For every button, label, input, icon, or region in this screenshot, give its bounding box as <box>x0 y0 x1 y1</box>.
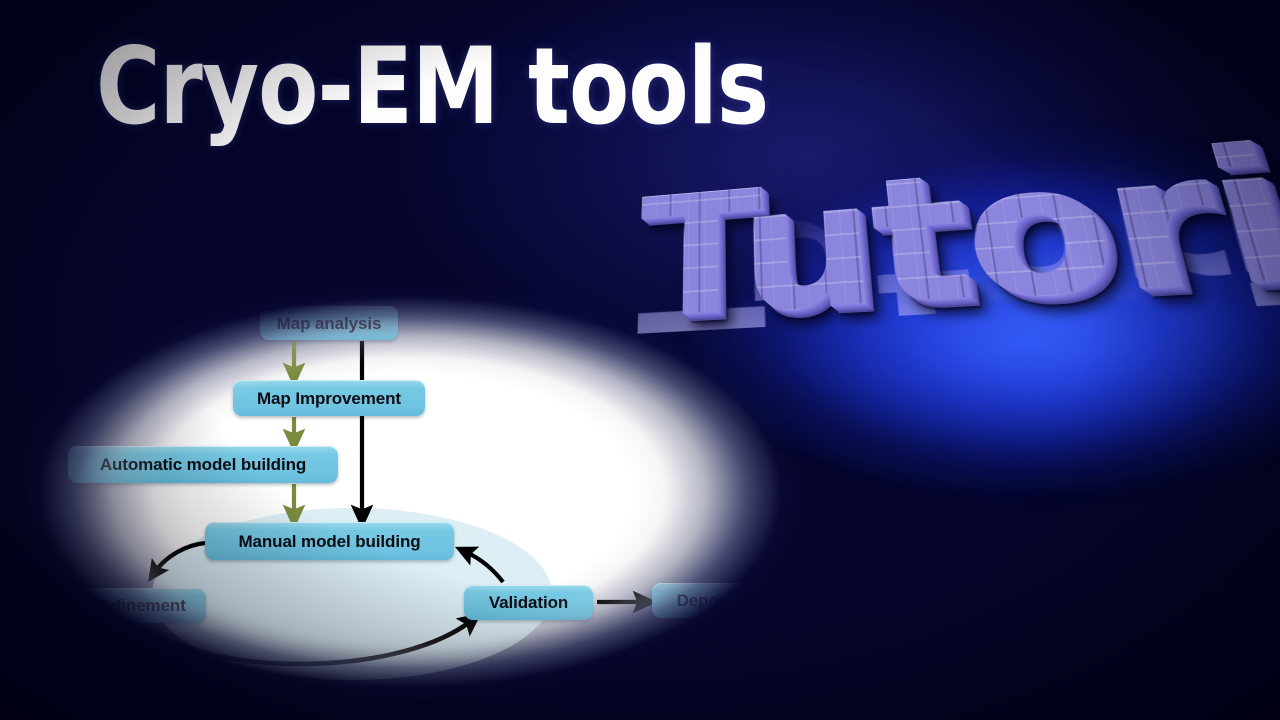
node-label: Automatic model building <box>100 456 306 473</box>
spotlight-workflow-area: Map analysis Map Improvement Automatic m… <box>10 282 810 702</box>
node-label: Map Improvement <box>257 390 401 407</box>
node-label: Refinement <box>94 597 186 614</box>
node-automatic-model-building[interactable]: Automatic model building <box>68 446 338 483</box>
node-label: Validation <box>489 594 568 611</box>
edge-manual-to-refinement <box>155 543 205 572</box>
node-validation[interactable]: Validation <box>464 585 593 620</box>
spotlight-clip: Map analysis Map Improvement Automatic m… <box>10 282 810 702</box>
slide: Tutorial Tutorial Tutorial Cryo-EM tools <box>0 0 1280 720</box>
node-label: Map analysis <box>277 315 382 332</box>
node-label: Deposition <box>677 592 764 609</box>
edge-refinement-to-validation <box>150 621 471 664</box>
edge-validation-to-manual <box>466 552 503 582</box>
node-deposition[interactable]: Deposition <box>652 583 788 618</box>
node-manual-model-building[interactable]: Manual model building <box>205 522 454 560</box>
node-refinement[interactable]: Refinement <box>74 588 206 623</box>
node-map-analysis[interactable]: Map analysis <box>260 306 398 340</box>
page-title: Cryo-EM tools <box>96 34 768 140</box>
node-map-improvement[interactable]: Map Improvement <box>233 380 425 416</box>
node-label: Manual model building <box>238 533 420 550</box>
